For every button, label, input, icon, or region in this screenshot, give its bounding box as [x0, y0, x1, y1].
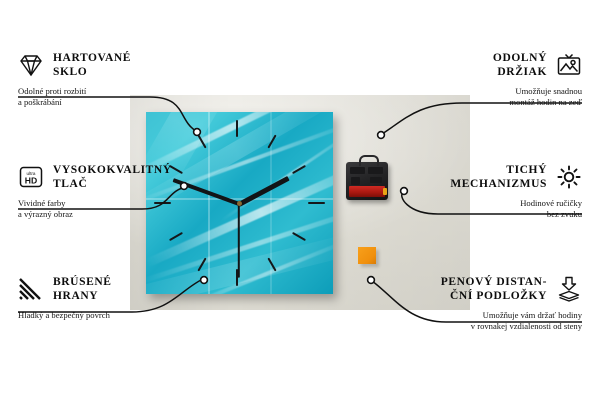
feature-desc: Hodinové ručičky bez zvuku	[402, 198, 582, 220]
feature-foam-spacers: PENOVÝ DISTAN- ČNÍ PODLOŽKY Umožňuje vám…	[392, 276, 582, 332]
feature-title: HARTOVANÉ SKLO	[53, 52, 131, 79]
feature-beveled-edges: BRÚSENÉ HRANY Hladký a bezpečný povrch	[18, 276, 203, 321]
connector-dot-6	[368, 277, 375, 284]
beveled-edges-icon	[18, 276, 44, 302]
connector-dot-1	[194, 129, 201, 136]
feature-high-quality-print: ultra HD VYSOKOKVALITNÝ TLAČ Vividné far…	[18, 164, 198, 220]
feature-silent-mechanism: TICHÝ MECHANIZMUS Hodinové ručičky bez z…	[402, 164, 582, 220]
gear-icon	[556, 164, 582, 190]
feature-title: BRÚSENÉ HRANY	[53, 276, 112, 303]
diamond-icon	[18, 52, 44, 78]
connector-dot-4	[378, 132, 385, 139]
picture-hanger-icon	[556, 52, 582, 78]
feature-desc: Odolné proti rozbití a poškrábání	[18, 86, 193, 108]
feature-durable-hanger: ODOLNÝ DRŽIAK Umožňuje snadnou montáž ho…	[407, 52, 582, 108]
feature-desc: Umožňuje snadnou montáž hodin na zeď	[407, 86, 582, 108]
ultra-hd-icon: ultra HD	[18, 164, 44, 190]
feature-title: ODOLNÝ DRŽIAK	[493, 52, 547, 79]
feature-desc: Umožňuje vám držať hodiny v rovnakej vzd…	[392, 310, 582, 332]
feature-title: TICHÝ MECHANIZMUS	[450, 164, 547, 191]
feature-title: VYSOKOKVALITNÝ TLAČ	[53, 164, 172, 191]
feature-desc: Vividné farby a výrazný obraz	[18, 198, 198, 220]
foam-spacer-icon	[556, 276, 582, 302]
feature-title: PENOVÝ DISTAN- ČNÍ PODLOŽKY	[441, 276, 547, 303]
feature-desc: Hladký a bezpečný povrch	[18, 310, 203, 321]
feature-tempered-glass: HARTOVANÉ SKLO Odolné proti rozbití a po…	[18, 52, 193, 108]
svg-text:HD: HD	[25, 176, 37, 186]
infographic-canvas: HARTOVANÉ SKLO Odolné proti rozbití a po…	[0, 0, 600, 400]
